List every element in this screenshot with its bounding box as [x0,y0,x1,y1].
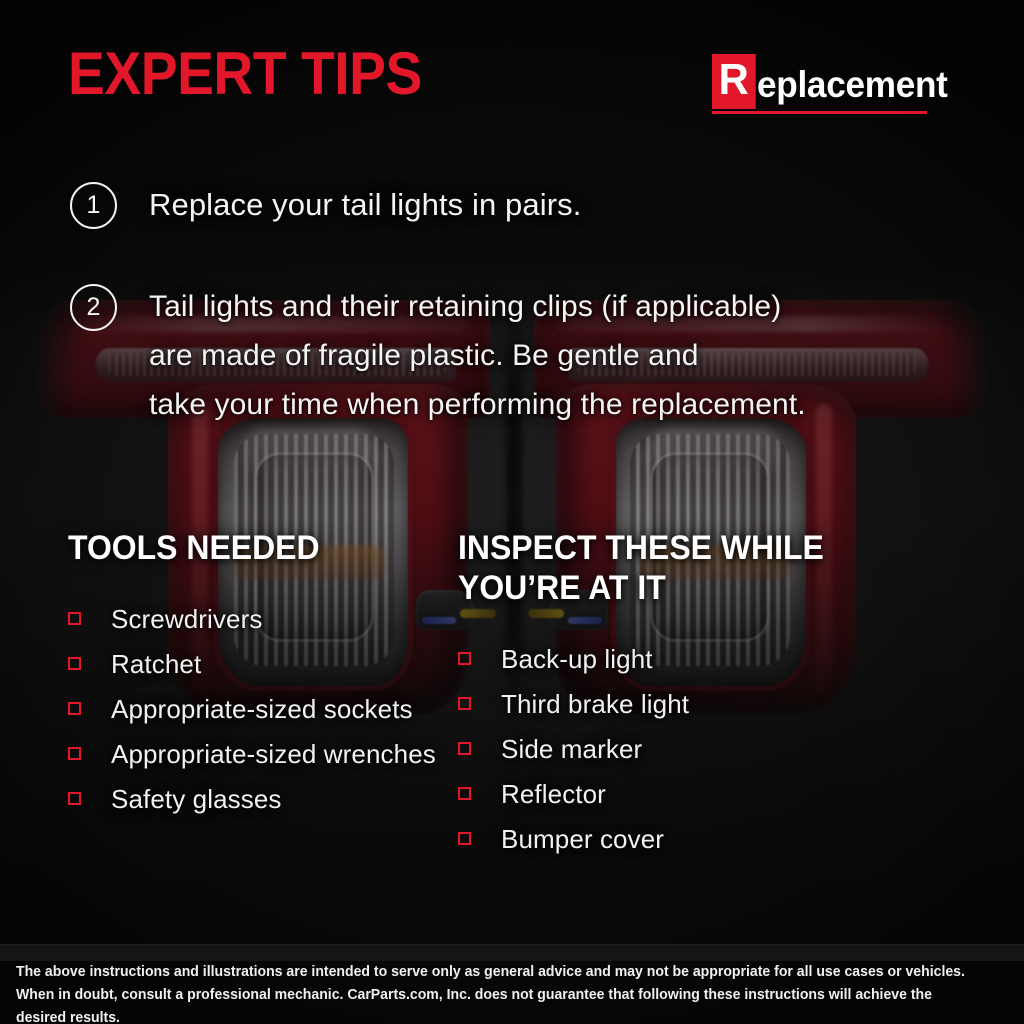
list-item[interactable]: Screwdrivers [68,596,448,641]
tip-number-badge-1: 1 [70,182,117,229]
page-title: EXPERT TIPS [68,44,422,104]
disclaimer-text: The above instructions and illustrations… [16,961,974,1024]
checkbox-icon[interactable] [68,702,81,715]
list-item[interactable]: Third brake light [458,681,858,726]
list-item[interactable]: Appropriate-sized wrenches [68,731,448,776]
list-item-label: Side marker [501,736,642,762]
tools-needed-column: TOOLS NEEDED Screwdrivers Ratchet Approp… [68,528,448,821]
checkbox-icon[interactable] [68,792,81,805]
tip-item-1: 1 Replace your tail lights in pairs. [70,180,581,230]
tip-item-2: 2 Tail lights and their retaining clips … [70,282,806,429]
replacement-brand-logo: R eplacement [712,54,958,114]
checkbox-icon[interactable] [458,787,471,800]
checkbox-icon[interactable] [458,697,471,710]
logo-wordmark: eplacement [757,66,948,109]
checkbox-icon[interactable] [68,657,81,670]
tools-needed-heading: TOOLS NEEDED [68,528,425,568]
list-item-label: Bumper cover [501,826,664,852]
list-item-label: Reflector [501,781,606,807]
list-item[interactable]: Side marker [458,726,858,771]
checkbox-icon[interactable] [68,747,81,760]
list-item-label: Appropriate-sized wrenches [111,741,436,767]
inspect-these-list: Back-up light Third brake light Side mar… [458,636,858,861]
checkbox-icon[interactable] [458,652,471,665]
list-item-label: Back-up light [501,646,653,672]
tools-needed-list: Screwdrivers Ratchet Appropriate-sized s… [68,596,448,821]
list-item[interactable]: Reflector [458,771,858,816]
list-item-label: Screwdrivers [111,606,262,632]
tip-text-1: Replace your tail lights in pairs. [149,180,581,230]
list-item-label: Ratchet [111,651,201,677]
logo-underline [712,111,927,114]
list-item[interactable]: Back-up light [458,636,858,681]
list-item[interactable]: Ratchet [68,641,448,686]
photo-vignette-overlay [0,0,1024,1024]
list-item-label: Third brake light [501,691,689,717]
checkbox-icon[interactable] [68,612,81,625]
inspect-these-column: INSPECT THESE WHILE YOU’RE AT IT Back-up… [458,528,858,861]
tip-number-badge-2: 2 [70,284,117,331]
inspect-these-heading: INSPECT THESE WHILE YOU’RE AT IT [458,528,834,608]
list-item-label: Safety glasses [111,786,282,812]
expert-tips-graphic: EXPERT TIPS R eplacement 1 Replace your … [0,0,1024,1024]
checkbox-icon[interactable] [458,832,471,845]
footer-disclaimer-bar: The above instructions and illustrations… [0,944,1024,961]
list-item[interactable]: Appropriate-sized sockets [68,686,448,731]
logo-initial-badge: R [712,54,755,109]
list-item[interactable]: Bumper cover [458,816,858,861]
tip-text-2: Tail lights and their retaining clips (i… [149,282,806,429]
tail-light-photo-background [0,0,1024,1024]
list-item[interactable]: Safety glasses [68,776,448,821]
list-item-label: Appropriate-sized sockets [111,696,413,722]
checkbox-icon[interactable] [458,742,471,755]
